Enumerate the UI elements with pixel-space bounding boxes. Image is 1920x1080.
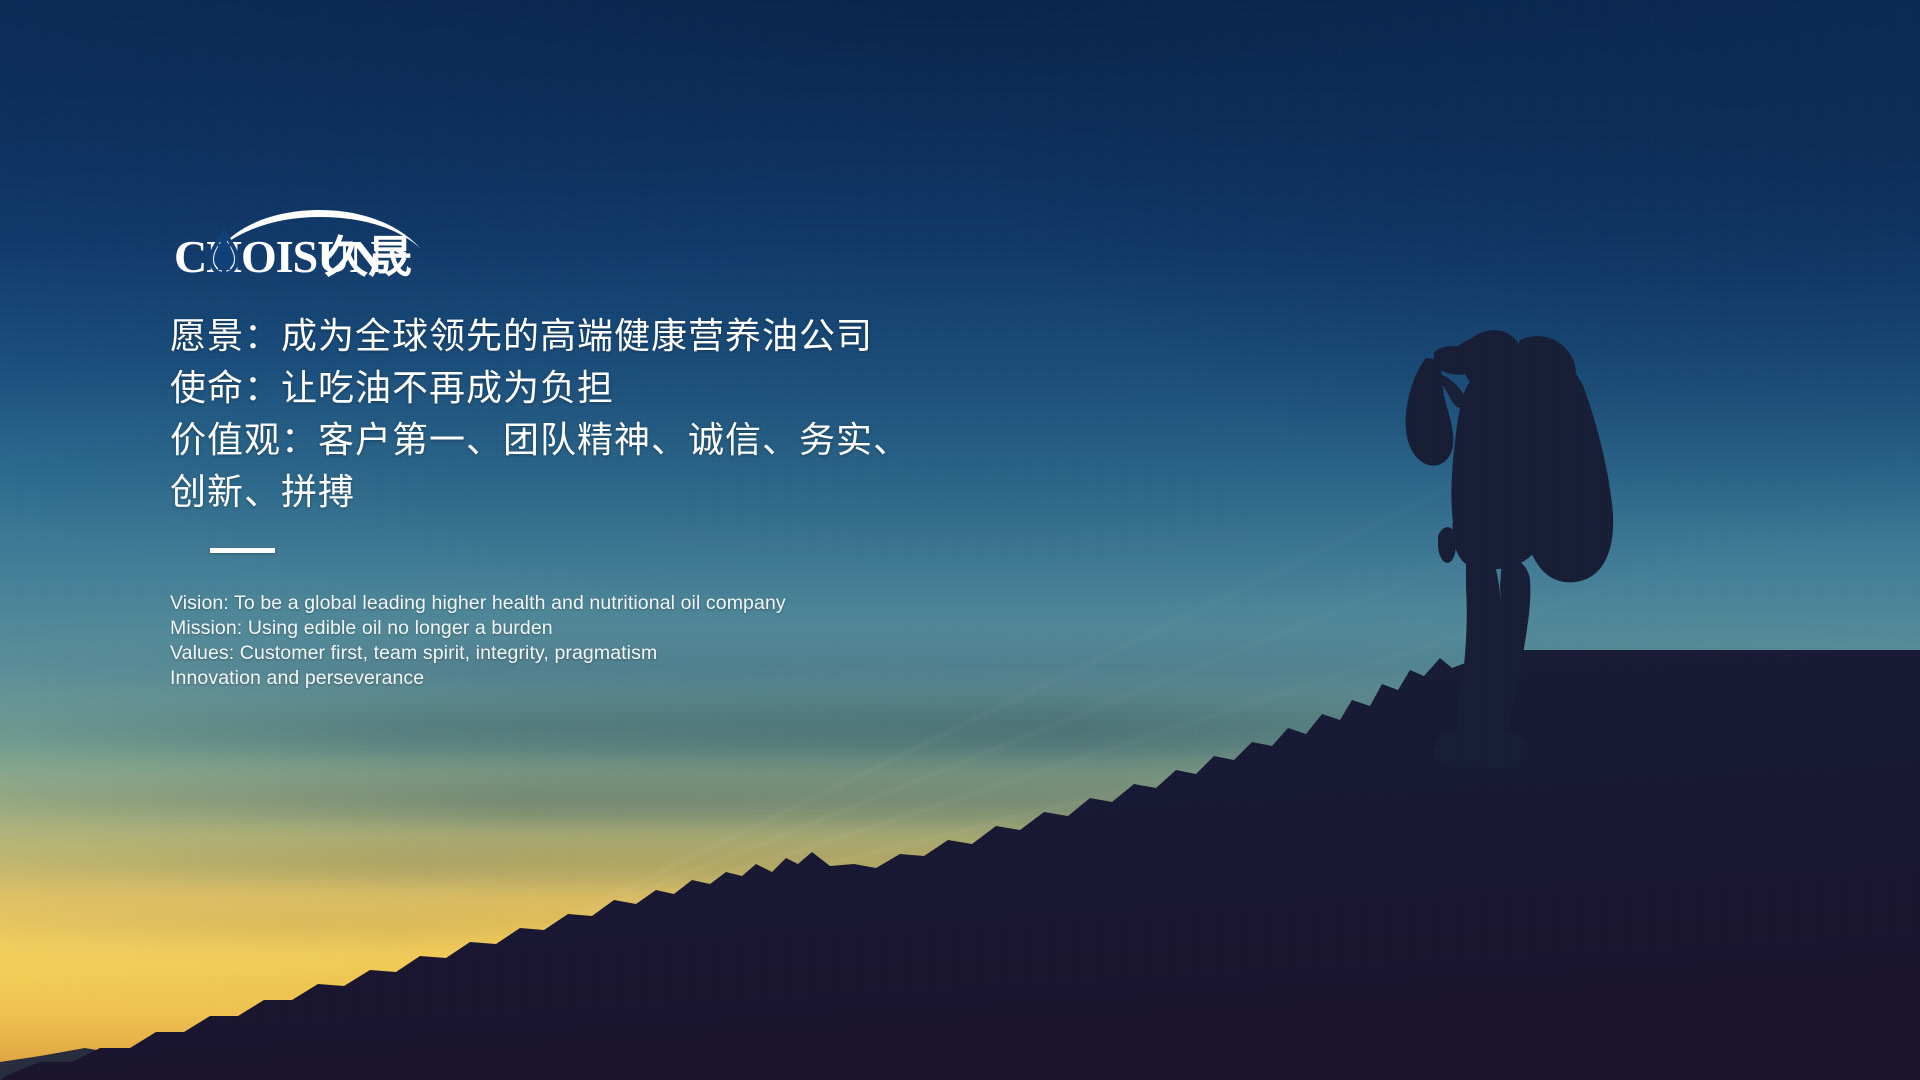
hiker-silhouette xyxy=(1380,318,1670,798)
chinese-statements: 愿景：成为全球领先的高端健康营养油公司 使命：让吃油不再成为负担 价值观：客户第… xyxy=(170,310,1120,518)
banner-stage: CHOISUN 久晟 愿景：成为全球领先的高端健康营养油公司 使命：让吃油不再成… xyxy=(0,0,1920,1080)
banner-content: CHOISUN 久晟 愿景：成为全球领先的高端健康营养油公司 使命：让吃油不再成… xyxy=(170,196,1120,691)
statement-en-vision: Vision: To be a global leading higher he… xyxy=(170,591,1120,616)
statement-cn-values-cont: 创新、拼搏 xyxy=(170,466,1120,518)
logo-artwork: CHOISUN 久晟 xyxy=(170,196,470,296)
divider-rule xyxy=(210,548,275,553)
statement-cn-values: 价值观：客户第一、团队精神、诚信、务实、 xyxy=(170,414,1120,466)
logo-chinese-text: 久晟 xyxy=(324,233,412,282)
statement-en-mission: Mission: Using edible oil no longer a bu… xyxy=(170,616,1120,641)
company-logo[interactable]: CHOISUN 久晟 xyxy=(170,196,1120,296)
statement-cn-mission: 使命：让吃油不再成为负担 xyxy=(170,362,1120,414)
english-statements: Vision: To be a global leading higher he… xyxy=(170,591,1120,691)
statement-en-values-cont: Innovation and perseverance xyxy=(170,666,1120,691)
statement-en-values: Values: Customer first, team spirit, int… xyxy=(170,641,1120,666)
statement-cn-vision: 愿景：成为全球领先的高端健康营养油公司 xyxy=(170,310,1120,362)
